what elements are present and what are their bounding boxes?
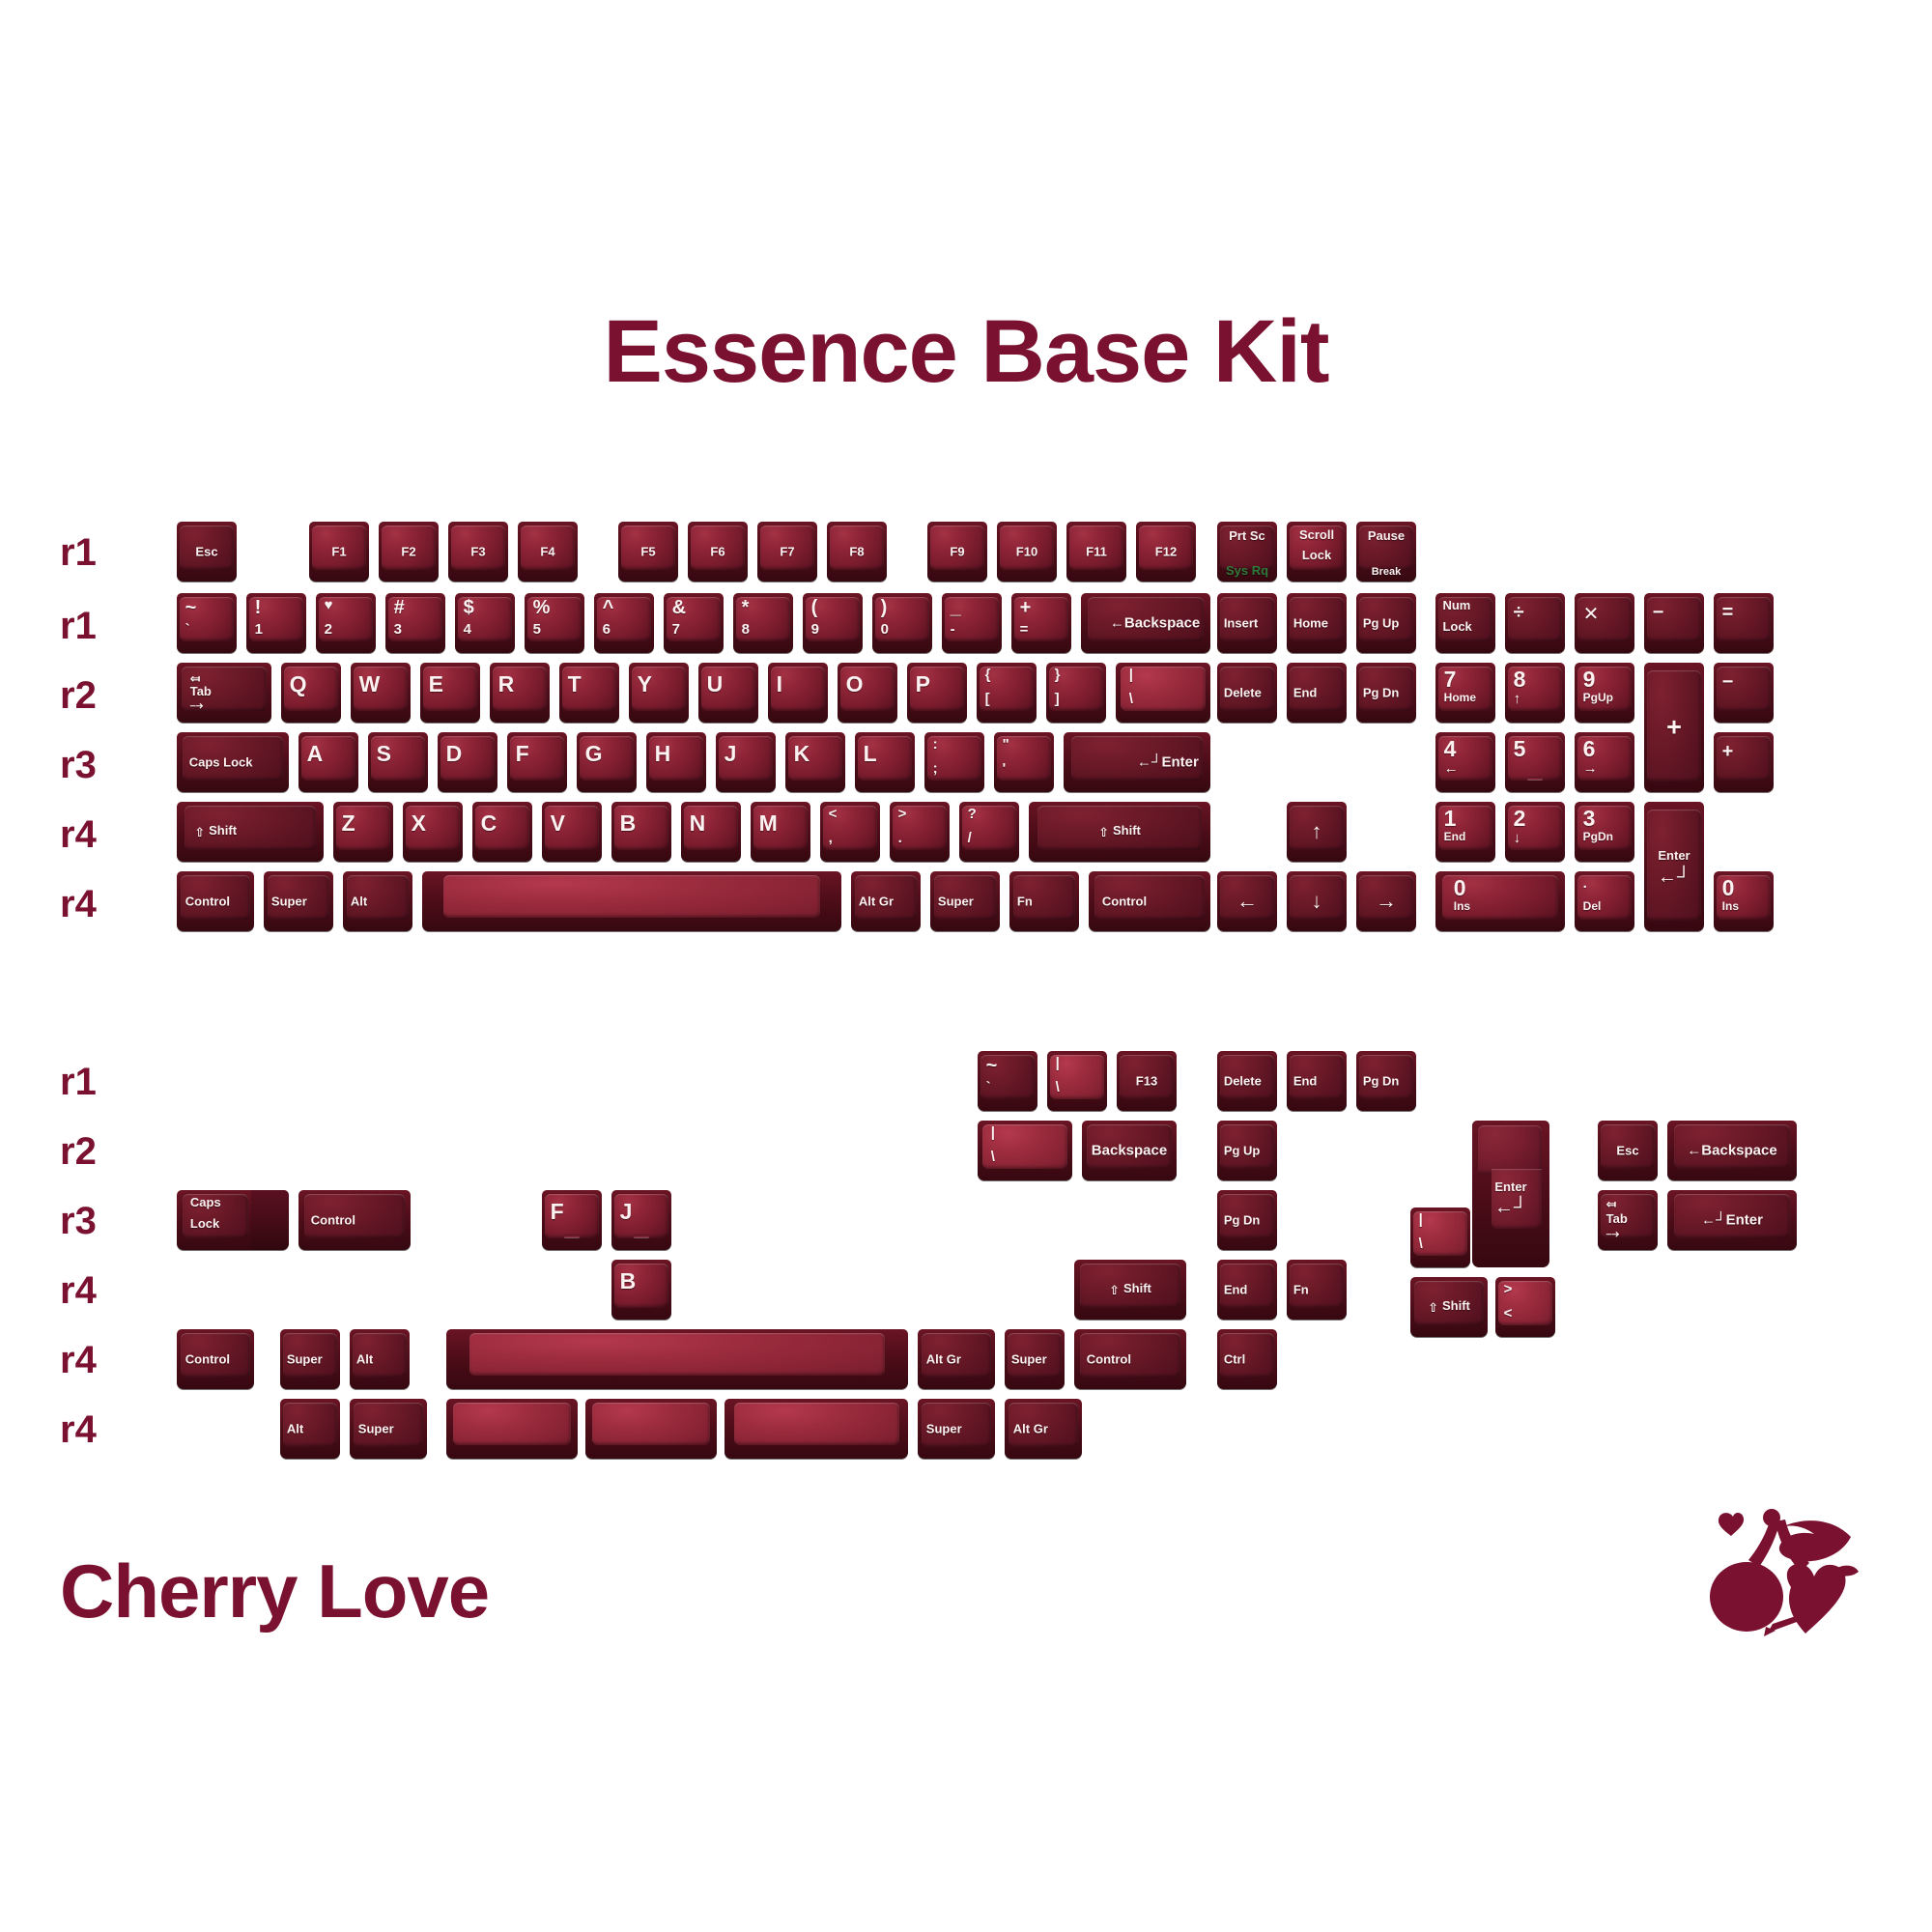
key-numpad-5[interactable]: 5 <box>1505 732 1565 792</box>
extras-key-caps-lock-stepped[interactable]: CapsLock <box>177 1190 289 1250</box>
extras-key-backspace-arrow[interactable]: ←Backspace <box>1667 1121 1797 1180</box>
extras-key-super-left[interactable]: Super <box>280 1329 340 1389</box>
key-page-down[interactable]: Pg Dn <box>1356 663 1416 723</box>
key-t[interactable]: T <box>559 663 619 723</box>
key-n[interactable]: N <box>681 802 741 862</box>
key-f9[interactable]: F9 <box>927 522 987 582</box>
keycap-set-poster: Essence Base Kit r1 r1 r2 r3 r4 r4 Esc F… <box>0 0 1932 1932</box>
key-slash[interactable]: ?/ <box>959 802 1019 862</box>
key-comma[interactable]: <, <box>820 802 880 862</box>
key-numpad-multiply[interactable]: ✕ <box>1575 593 1634 653</box>
key-enter[interactable]: ←┘Enter <box>1064 732 1210 792</box>
extras-key-fn[interactable]: Fn <box>1287 1260 1347 1320</box>
extras-key-super-right[interactable]: Super <box>1005 1329 1065 1389</box>
key-numpad-8[interactable]: 8↑ <box>1505 663 1565 723</box>
key-p[interactable]: P <box>907 663 967 723</box>
extras-key-control-caps[interactable]: Control <box>298 1190 411 1250</box>
key-numpad-7[interactable]: 7Home <box>1435 663 1495 723</box>
extras-row-label-r3: r3 <box>60 1202 97 1240</box>
key-fn[interactable]: Fn <box>1009 871 1079 931</box>
extras-key-spacebar-3u[interactable] <box>724 1399 908 1459</box>
key-numpad-equal[interactable]: = <box>1714 593 1774 653</box>
extras-key-esc[interactable]: Esc <box>1598 1121 1658 1180</box>
key-f7[interactable]: F7 <box>757 522 817 582</box>
key-pause[interactable]: Pause Break <box>1356 522 1416 582</box>
key-alt-gr[interactable]: Alt Gr <box>851 871 921 931</box>
key-arrow-up[interactable]: ↑ <box>1287 802 1347 862</box>
key-control-right[interactable]: Control <box>1089 871 1210 931</box>
key-i[interactable]: I <box>768 663 828 723</box>
extras-key-backslash-iso[interactable]: |\ <box>1410 1207 1470 1267</box>
extras-key-grave[interactable]: ~` <box>978 1051 1037 1111</box>
key-numpad-1[interactable]: 1End <box>1435 802 1495 862</box>
key-super-left[interactable]: Super <box>264 871 333 931</box>
extras-row-label-r4-b: r4 <box>60 1341 97 1379</box>
key-minus[interactable]: _- <box>942 593 1002 653</box>
homing-bar <box>634 1235 649 1237</box>
row-label-r1-fn: r1 <box>60 533 97 572</box>
key-equal[interactable]: += <box>1011 593 1071 653</box>
extras-key-super-3[interactable]: Super <box>918 1399 995 1459</box>
key-end[interactable]: End <box>1287 663 1347 723</box>
key-5[interactable]: %5 <box>525 593 584 653</box>
key-delete[interactable]: Delete <box>1217 663 1277 723</box>
row-label-r3: r3 <box>60 746 97 784</box>
key-b[interactable]: B <box>611 802 671 862</box>
key-numpad-divide[interactable]: ÷ <box>1505 593 1565 653</box>
extras-key-alt-gr[interactable]: Alt Gr <box>918 1329 995 1389</box>
key-esc[interactable]: Esc <box>177 522 237 582</box>
key-insert[interactable]: Insert <box>1217 593 1277 653</box>
row-label-r2: r2 <box>60 676 97 715</box>
key-numpad-2[interactable]: 2↓ <box>1505 802 1565 862</box>
extras-key-angle-brackets[interactable]: >< <box>1495 1277 1555 1337</box>
key-z[interactable]: Z <box>333 802 393 862</box>
extras-row-label-r4-c: r4 <box>60 1410 97 1449</box>
key-f5[interactable]: F5 <box>618 522 678 582</box>
key-x[interactable]: X <box>403 802 463 862</box>
extras-key-delete[interactable]: Delete <box>1217 1051 1277 1111</box>
key-f4[interactable]: F4 <box>518 522 578 582</box>
key-y[interactable]: Y <box>629 663 689 723</box>
key-g[interactable]: G <box>577 732 637 792</box>
key-shift-right[interactable]: ⇧Shift <box>1029 802 1210 862</box>
key-8[interactable]: *8 <box>733 593 793 653</box>
key-h[interactable]: H <box>646 732 706 792</box>
extras-key-end-2[interactable]: End <box>1217 1260 1277 1320</box>
key-m[interactable]: M <box>751 802 810 862</box>
key-f1[interactable]: F1 <box>309 522 369 582</box>
key-f10[interactable]: F10 <box>997 522 1057 582</box>
key-1[interactable]: !1 <box>246 593 306 653</box>
key-9[interactable]: (9 <box>803 593 863 653</box>
homing-bar <box>564 1235 580 1237</box>
key-c[interactable]: C <box>472 802 532 862</box>
extras-key-super-2[interactable]: Super <box>350 1399 427 1459</box>
page-title: Essence Base Kit <box>0 307 1932 396</box>
extras-key-ctrl[interactable]: Ctrl <box>1217 1329 1277 1389</box>
key-numpad-9[interactable]: 9PgUp <box>1575 663 1634 723</box>
homing-bar <box>1527 777 1543 780</box>
key-0[interactable]: )0 <box>872 593 932 653</box>
extras-key-j-homing[interactable]: J <box>611 1190 671 1250</box>
extras-key-b[interactable]: B <box>611 1260 671 1320</box>
key-v[interactable]: V <box>542 802 602 862</box>
key-l[interactable]: L <box>855 732 915 792</box>
key-f3[interactable]: F3 <box>448 522 508 582</box>
extras-key-tab[interactable]: ⤆ Tab ⤍ <box>1598 1190 1658 1250</box>
key-period[interactable]: >. <box>890 802 950 862</box>
key-grave[interactable]: ~` <box>177 593 237 653</box>
extras-row-label-r4-a: r4 <box>60 1271 97 1310</box>
key-e[interactable]: E <box>420 663 480 723</box>
extras-key-spacebar-7u[interactable] <box>446 1329 908 1389</box>
key-arrow-right[interactable]: → <box>1356 871 1416 931</box>
extras-key-control-right[interactable]: Control <box>1074 1329 1186 1389</box>
key-4[interactable]: $4 <box>455 593 515 653</box>
key-numpad-dot[interactable]: .Del <box>1575 871 1634 931</box>
key-backspace[interactable]: ←Backspace <box>1081 593 1210 653</box>
extras-key-spacebar-2u-b[interactable] <box>585 1399 717 1459</box>
key-tab[interactable]: ⤆ Tab ⤍ <box>177 663 271 723</box>
extras-key-f13[interactable]: F13 <box>1117 1051 1177 1111</box>
extras-key-control-left[interactable]: Control <box>177 1329 254 1389</box>
key-print-screen[interactable]: Prt Sc Sys Rq <box>1217 522 1277 582</box>
key-a[interactable]: A <box>298 732 358 792</box>
extras-key-backslash-wide[interactable]: |\ <box>978 1121 1072 1180</box>
key-w[interactable]: W <box>351 663 411 723</box>
key-arrow-down[interactable]: ↓ <box>1287 871 1347 931</box>
key-j[interactable]: J <box>716 732 776 792</box>
key-quote[interactable]: "' <box>994 732 1054 792</box>
extras-key-alt-left[interactable]: Alt <box>350 1329 410 1389</box>
key-q[interactable]: Q <box>281 663 341 723</box>
key-super-right[interactable]: Super <box>930 871 1000 931</box>
key-numpad-0[interactable]: 0Ins <box>1435 871 1565 931</box>
key-numpad-4[interactable]: 4← <box>1435 732 1495 792</box>
extras-key-shift-iso[interactable]: ⇧Shift <box>1410 1277 1488 1337</box>
cherry-love-logo <box>1692 1495 1886 1679</box>
key-f[interactable]: F <box>507 732 567 792</box>
extras-key-end[interactable]: End <box>1287 1051 1347 1111</box>
key-numpad-plus-tall[interactable]: + <box>1644 663 1704 792</box>
key-k[interactable]: K <box>785 732 845 792</box>
key-f8[interactable]: F8 <box>827 522 887 582</box>
key-bracket-right[interactable]: }] <box>1046 663 1106 723</box>
extras-key-page-dn[interactable]: Pg Dn <box>1217 1190 1277 1250</box>
key-numpad-enter[interactable]: Enter ←┘ <box>1644 802 1704 931</box>
key-num-lock[interactable]: NumLock <box>1435 593 1495 653</box>
key-r[interactable]: R <box>490 663 550 723</box>
key-arrow-left[interactable]: ← <box>1217 871 1277 931</box>
extras-key-spacebar-2u-a[interactable] <box>446 1399 578 1459</box>
key-numpad-plus[interactable]: + <box>1714 732 1774 792</box>
extras-key-backslash-1u[interactable]: |\ <box>1047 1051 1107 1111</box>
extras-key-iso-enter[interactable]: Enter ←┘ <box>1472 1121 1549 1267</box>
key-control-left[interactable]: Control <box>177 871 254 931</box>
key-6[interactable]: ^6 <box>594 593 654 653</box>
key-numpad-minus-top[interactable]: − <box>1644 593 1704 653</box>
extras-key-page-up[interactable]: Pg Up <box>1217 1121 1277 1180</box>
key-u[interactable]: U <box>698 663 758 723</box>
extras-key-enter-ansi[interactable]: ←┘Enter <box>1667 1190 1797 1250</box>
row-label-r4-mod: r4 <box>60 885 97 923</box>
extras-key-f-homing[interactable]: F <box>542 1190 602 1250</box>
key-semicolon[interactable]: :; <box>924 732 984 792</box>
key-alt-left[interactable]: Alt <box>343 871 412 931</box>
key-backslash[interactable]: |\ <box>1116 663 1210 723</box>
footer-title: Cherry Love <box>60 1553 489 1629</box>
caps-lock-step <box>251 1190 289 1250</box>
extras-row-label-r1: r1 <box>60 1063 97 1101</box>
key-caps-lock[interactable]: Caps Lock <box>177 732 289 792</box>
key-d[interactable]: D <box>438 732 497 792</box>
key-s[interactable]: S <box>368 732 428 792</box>
key-o[interactable]: O <box>838 663 897 723</box>
key-2-heart[interactable]: ♥2 <box>316 593 376 653</box>
extras-key-backspace-plain[interactable]: Backspace <box>1082 1121 1177 1180</box>
key-numpad-minus[interactable]: − <box>1714 663 1774 723</box>
key-numpad-0-single[interactable]: 0Ins <box>1714 871 1774 931</box>
extras-key-alt-gr-2[interactable]: Alt Gr <box>1005 1399 1082 1459</box>
key-3[interactable]: #3 <box>385 593 445 653</box>
row-label-r4-z: r4 <box>60 815 97 854</box>
extras-row-label-r2: r2 <box>60 1132 97 1171</box>
key-shift-left[interactable]: ⇧Shift <box>177 802 324 862</box>
key-numpad-6[interactable]: 6→ <box>1575 732 1634 792</box>
key-spacebar[interactable] <box>422 871 841 931</box>
extras-key-alt-2[interactable]: Alt <box>280 1399 340 1459</box>
key-f12[interactable]: F12 <box>1136 522 1196 582</box>
key-f11[interactable]: F11 <box>1066 522 1126 582</box>
key-page-up[interactable]: Pg Up <box>1356 593 1416 653</box>
key-numpad-3[interactable]: 3PgDn <box>1575 802 1634 862</box>
key-scroll-lock[interactable]: Scroll Lock <box>1287 522 1347 582</box>
key-home[interactable]: Home <box>1287 593 1347 653</box>
row-label-r1-num: r1 <box>60 607 97 645</box>
key-f6[interactable]: F6 <box>688 522 748 582</box>
key-7[interactable]: &7 <box>664 593 724 653</box>
key-bracket-left[interactable]: {[ <box>977 663 1037 723</box>
key-f2[interactable]: F2 <box>379 522 439 582</box>
extras-key-shift-short[interactable]: ⇧Shift <box>1074 1260 1186 1320</box>
extras-key-page-dn-top[interactable]: Pg Dn <box>1356 1051 1416 1111</box>
